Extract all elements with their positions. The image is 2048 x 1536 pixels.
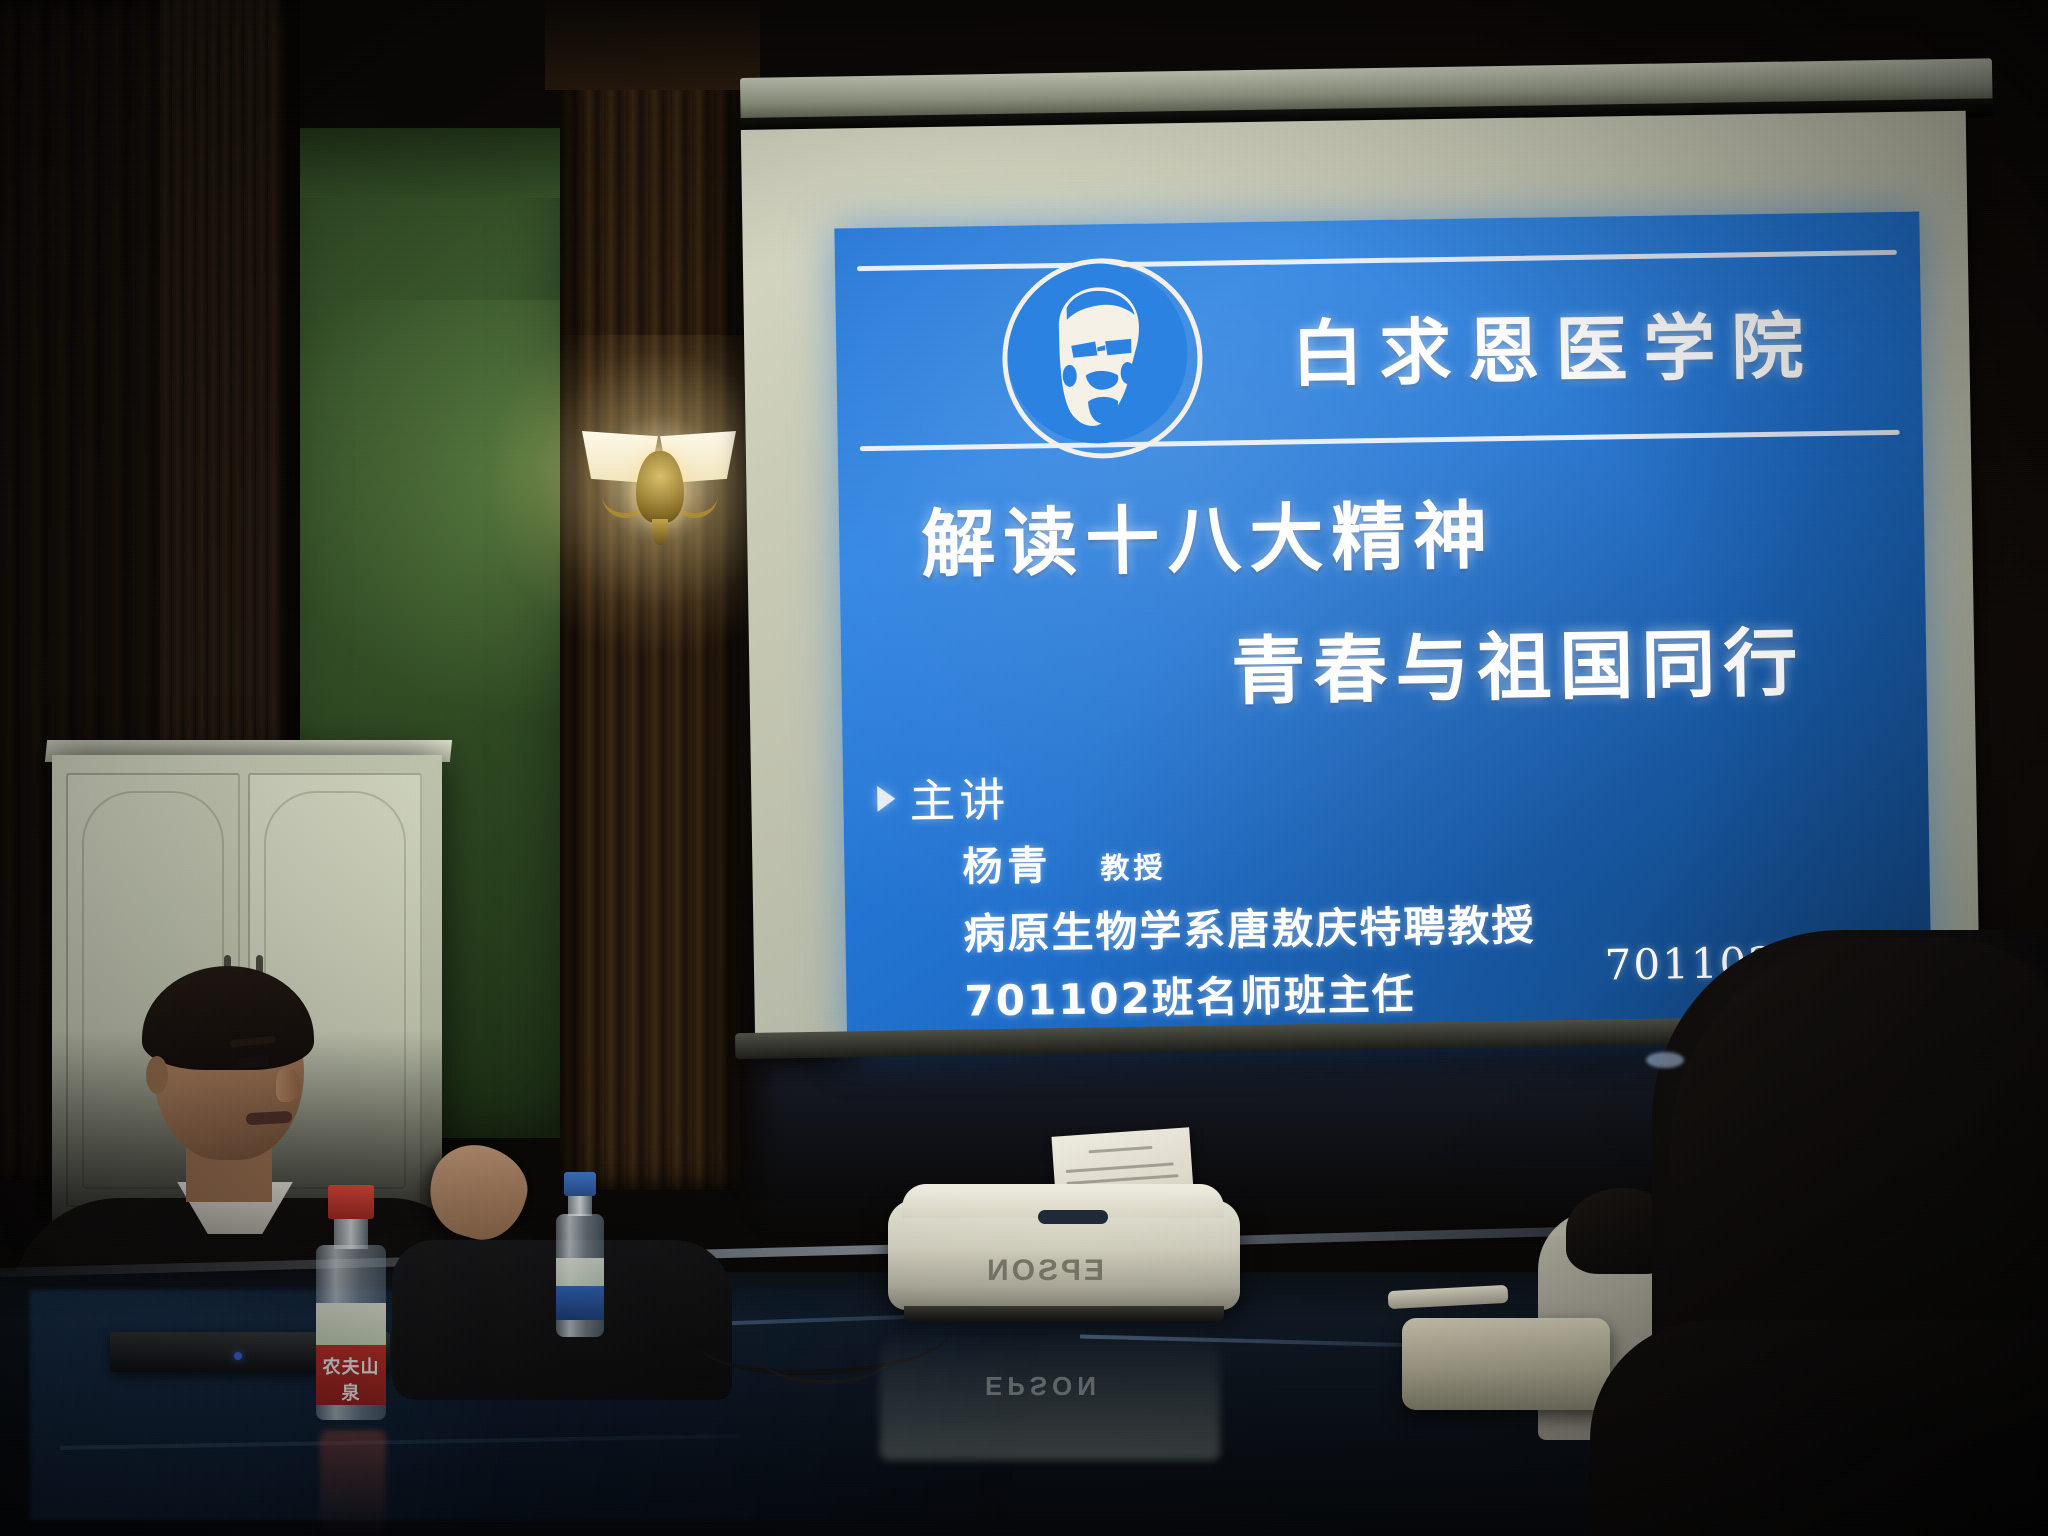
lamp-body-ornament	[636, 451, 684, 523]
slide-bullet-presenter: 主讲	[877, 764, 1010, 832]
slide-header: 白求恩医学院	[835, 233, 1923, 450]
photo-scene: 白求恩医学院 解读十八大精神 青春与祖国同行 主讲 杨青教授 病原生物学系唐敖庆…	[0, 0, 2048, 1536]
slide-speaker-class-role: 701102班名师班主任	[964, 959, 1537, 1029]
water-bottle-back	[556, 1172, 604, 1337]
man-eye	[238, 1055, 273, 1068]
foreground-person-shoulder	[1590, 1320, 2048, 1536]
bottle-cap	[328, 1185, 374, 1219]
slide-institution-name: 白求恩医学院	[1290, 287, 1820, 400]
slide-bullet-label: 主讲	[909, 764, 1010, 832]
man-mouth	[246, 1111, 293, 1125]
wall-sconce-lamp	[580, 425, 740, 555]
slide-speaker-rank: 教授	[1100, 850, 1167, 885]
eyeglasses-icon	[1646, 1052, 1684, 1068]
bottle-cap	[564, 1172, 596, 1196]
projector-base-feet	[904, 1306, 1224, 1322]
rolled-paper	[1402, 1318, 1610, 1410]
bottle-label-lower	[556, 1286, 604, 1320]
projector-lens-slot	[1038, 1210, 1108, 1224]
projector-brand-reflection: EPSON	[985, 1370, 1101, 1401]
man-hair	[142, 966, 314, 1070]
projector-brand-label: EPSON	[984, 1254, 1104, 1288]
note-line	[1088, 1146, 1152, 1153]
slide-speaker-block: 杨青教授 病原生物学系唐敖庆特聘教授 701102班名师班主任	[962, 826, 1537, 1029]
projected-slide: 白求恩医学院 解读十八大精神 青春与祖国同行 主讲 杨青教授 病原生物学系唐敖庆…	[834, 211, 1932, 1050]
slide-speaker-name: 杨青	[962, 843, 1053, 890]
green-wall-lamp-spill	[258, 300, 598, 720]
water-bottle-front: 农夫山泉	[316, 1185, 386, 1420]
projector-cable-secondary	[760, 1330, 890, 1384]
epson-projector: EPSON	[888, 1200, 1240, 1310]
bethune-portrait-icon	[1001, 257, 1204, 460]
wood-pilaster-cap	[545, 0, 760, 90]
man-ear	[146, 1056, 168, 1094]
lamp-finial	[652, 519, 668, 545]
triangle-right-icon	[877, 786, 895, 812]
bottle-label-upper	[316, 1303, 386, 1347]
slide-title-line-2: 青春与祖国同行	[1230, 603, 1806, 719]
green-wall-top-band	[258, 128, 578, 198]
bottle-brand-text: 农夫山泉	[316, 1353, 386, 1405]
bottle-neck	[334, 1215, 368, 1249]
slide-title-line-1: 解读十八大精神	[920, 476, 1496, 592]
screen-surface: 白求恩医学院 解读十八大精神 青春与祖国同行 主讲 杨青教授 病原生物学系唐敖庆…	[741, 111, 1980, 1048]
slide-speaker-name-row: 杨青教授	[962, 826, 1535, 893]
man-nose	[276, 1068, 300, 1102]
bottle-reflection	[320, 1430, 386, 1536]
foreground-person-hair	[1670, 938, 2048, 1378]
laptop-power-led-icon	[234, 1352, 242, 1360]
bottle-label-upper	[556, 1258, 604, 1288]
projection-screen: 白求恩医学院 解读十八大精神 青春与祖国同行 主讲 杨青教授 病原生物学系唐敖庆…	[740, 57, 2048, 1047]
slide-speaker-department: 病原生物学系唐敖庆特聘教授	[963, 892, 1536, 962]
note-line	[1066, 1162, 1174, 1173]
